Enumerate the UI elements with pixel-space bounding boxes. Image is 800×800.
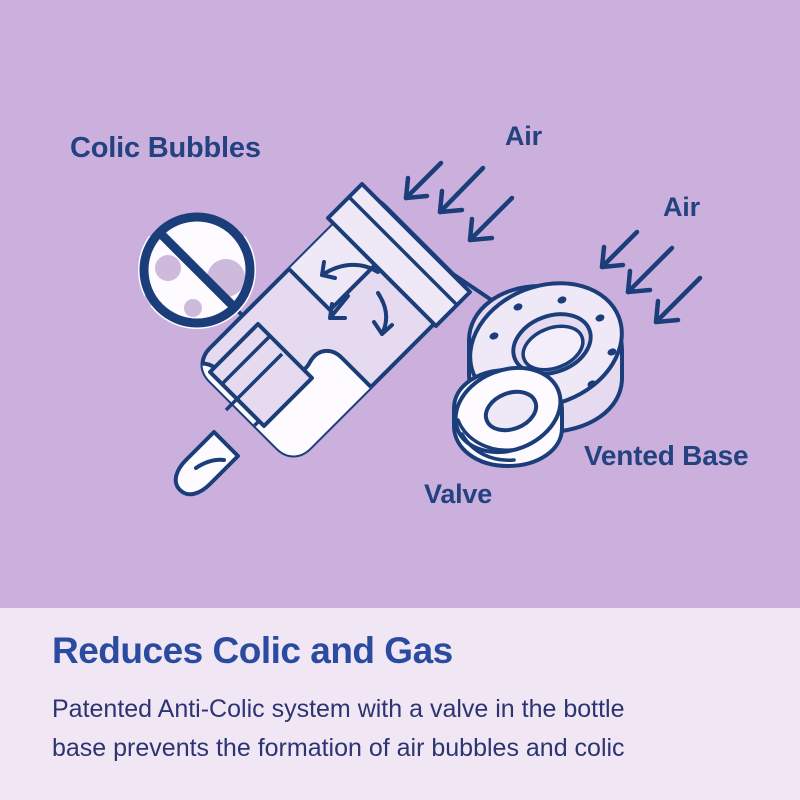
label-air-right: Air [663, 192, 700, 223]
product-feature-graphic: Colic Bubbles Air Air Valve Vented Base … [0, 0, 800, 800]
label-vented-base: Vented Base [584, 440, 748, 472]
caption-panel: Reduces Colic and Gas Patented Anti-Coli… [0, 608, 800, 800]
caption-body: Patented Anti-Colic system with a valve … [52, 690, 772, 768]
air-arrow-icon [470, 198, 512, 240]
air-arrow-icon [406, 163, 441, 198]
air-arrow-icon [656, 278, 700, 322]
anti-colic-diagram [0, 0, 800, 608]
label-valve: Valve [424, 479, 492, 510]
page-title: Reduces Colic and Gas [52, 630, 453, 672]
air-arrows-top [406, 163, 512, 240]
caption-body-line: base prevents the formation of air bubbl… [52, 729, 772, 768]
label-air-top: Air [505, 121, 542, 152]
air-arrow-icon [440, 168, 483, 212]
air-arrow-icon [628, 248, 672, 292]
air-arrow-icon [602, 232, 637, 267]
illustration-panel: Colic Bubbles Air Air Valve Vented Base [0, 0, 800, 608]
caption-body-line: Patented Anti-Colic system with a valve … [52, 690, 772, 729]
label-colic-bubbles: Colic Bubbles [70, 132, 261, 165]
